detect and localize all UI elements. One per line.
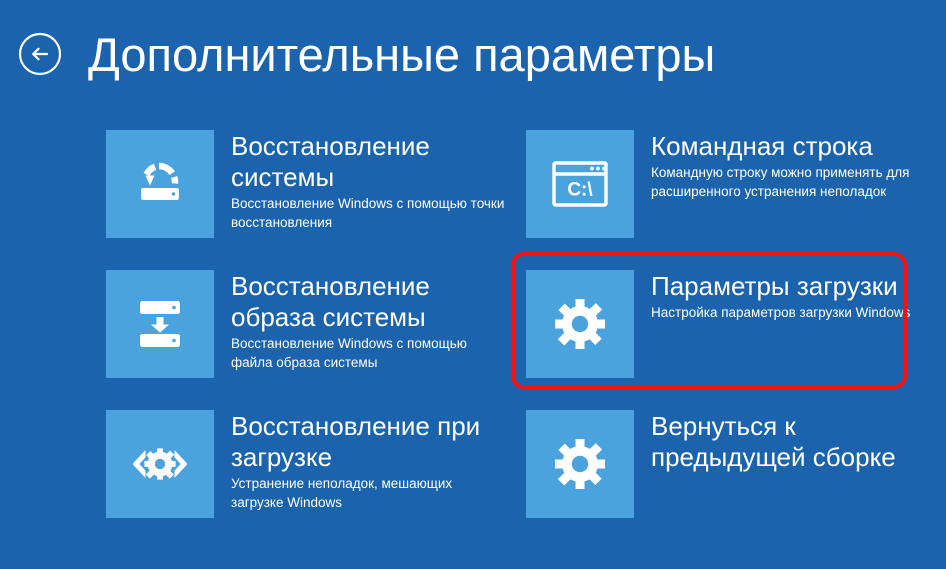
tile-go-back-previous-build[interactable]: Вернуться к предыдущей сборке [526, 410, 926, 518]
tile-icon-container [106, 130, 214, 238]
tile-icon-container [106, 270, 214, 378]
tile-title: Восстановление при загрузке [231, 411, 506, 473]
tile-icon-container: C:\ [526, 130, 634, 238]
page-title: Дополнительные параметры [88, 31, 715, 78]
options-grid: Восстановление системы Восстановление Wi… [0, 108, 946, 569]
tile-icon-container [106, 410, 214, 518]
arrow-left-circle-icon [17, 31, 63, 77]
tile-title: Параметры загрузки [651, 271, 926, 302]
tile-description: Восстановление Windows с помощью точки в… [231, 194, 506, 232]
tile-title: Командная строка [651, 131, 926, 162]
system-restore-disk-icon [128, 152, 192, 216]
gear-icon [546, 290, 614, 358]
tile-system-restore[interactable]: Восстановление системы Восстановление Wi… [106, 130, 506, 238]
startup-repair-brackets-gear-icon [126, 432, 194, 496]
tile-startup-repair[interactable]: Восстановление при загрузке Устранение н… [106, 410, 506, 518]
tile-title: Восстановление системы [231, 131, 506, 193]
tile-text: Командная строка Командную строку можно … [634, 130, 926, 201]
command-prompt-icon: C:\ [548, 155, 612, 213]
tile-system-image-recovery[interactable]: Восстановление образа системы Восстановл… [106, 270, 506, 378]
tile-text: Восстановление при загрузке Устранение н… [214, 410, 506, 512]
tile-title: Вернуться к предыдущей сборке [651, 411, 926, 473]
tile-icon-container [526, 410, 634, 518]
tile-text: Восстановление образа системы Восстановл… [214, 270, 506, 372]
page-header: Дополнительные параметры [0, 0, 946, 108]
tile-command-prompt[interactable]: C:\ Командная строка Командную строку мо… [526, 130, 926, 238]
tile-description: Настройка параметров загрузки Windows [651, 303, 926, 322]
tile-description: Устранение неполадок, мешающих загрузке … [231, 474, 506, 512]
tile-text: Восстановление системы Восстановление Wi… [214, 130, 506, 232]
tile-text: Вернуться к предыдущей сборке [634, 410, 926, 474]
system-image-recovery-icon [128, 292, 192, 356]
tile-text: Параметры загрузки Настройка параметров … [634, 270, 926, 322]
tile-description: Командную строку можно применять для рас… [651, 163, 926, 201]
gear-icon [546, 430, 614, 498]
tile-description: Восстановление Windows с помощью файла о… [231, 334, 506, 372]
tile-startup-settings[interactable]: Параметры загрузки Настройка параметров … [526, 270, 926, 378]
svg-text:C:\: C:\ [567, 180, 593, 201]
tile-icon-container [526, 270, 634, 378]
back-button[interactable] [14, 28, 66, 80]
tile-title: Восстановление образа системы [231, 271, 506, 333]
